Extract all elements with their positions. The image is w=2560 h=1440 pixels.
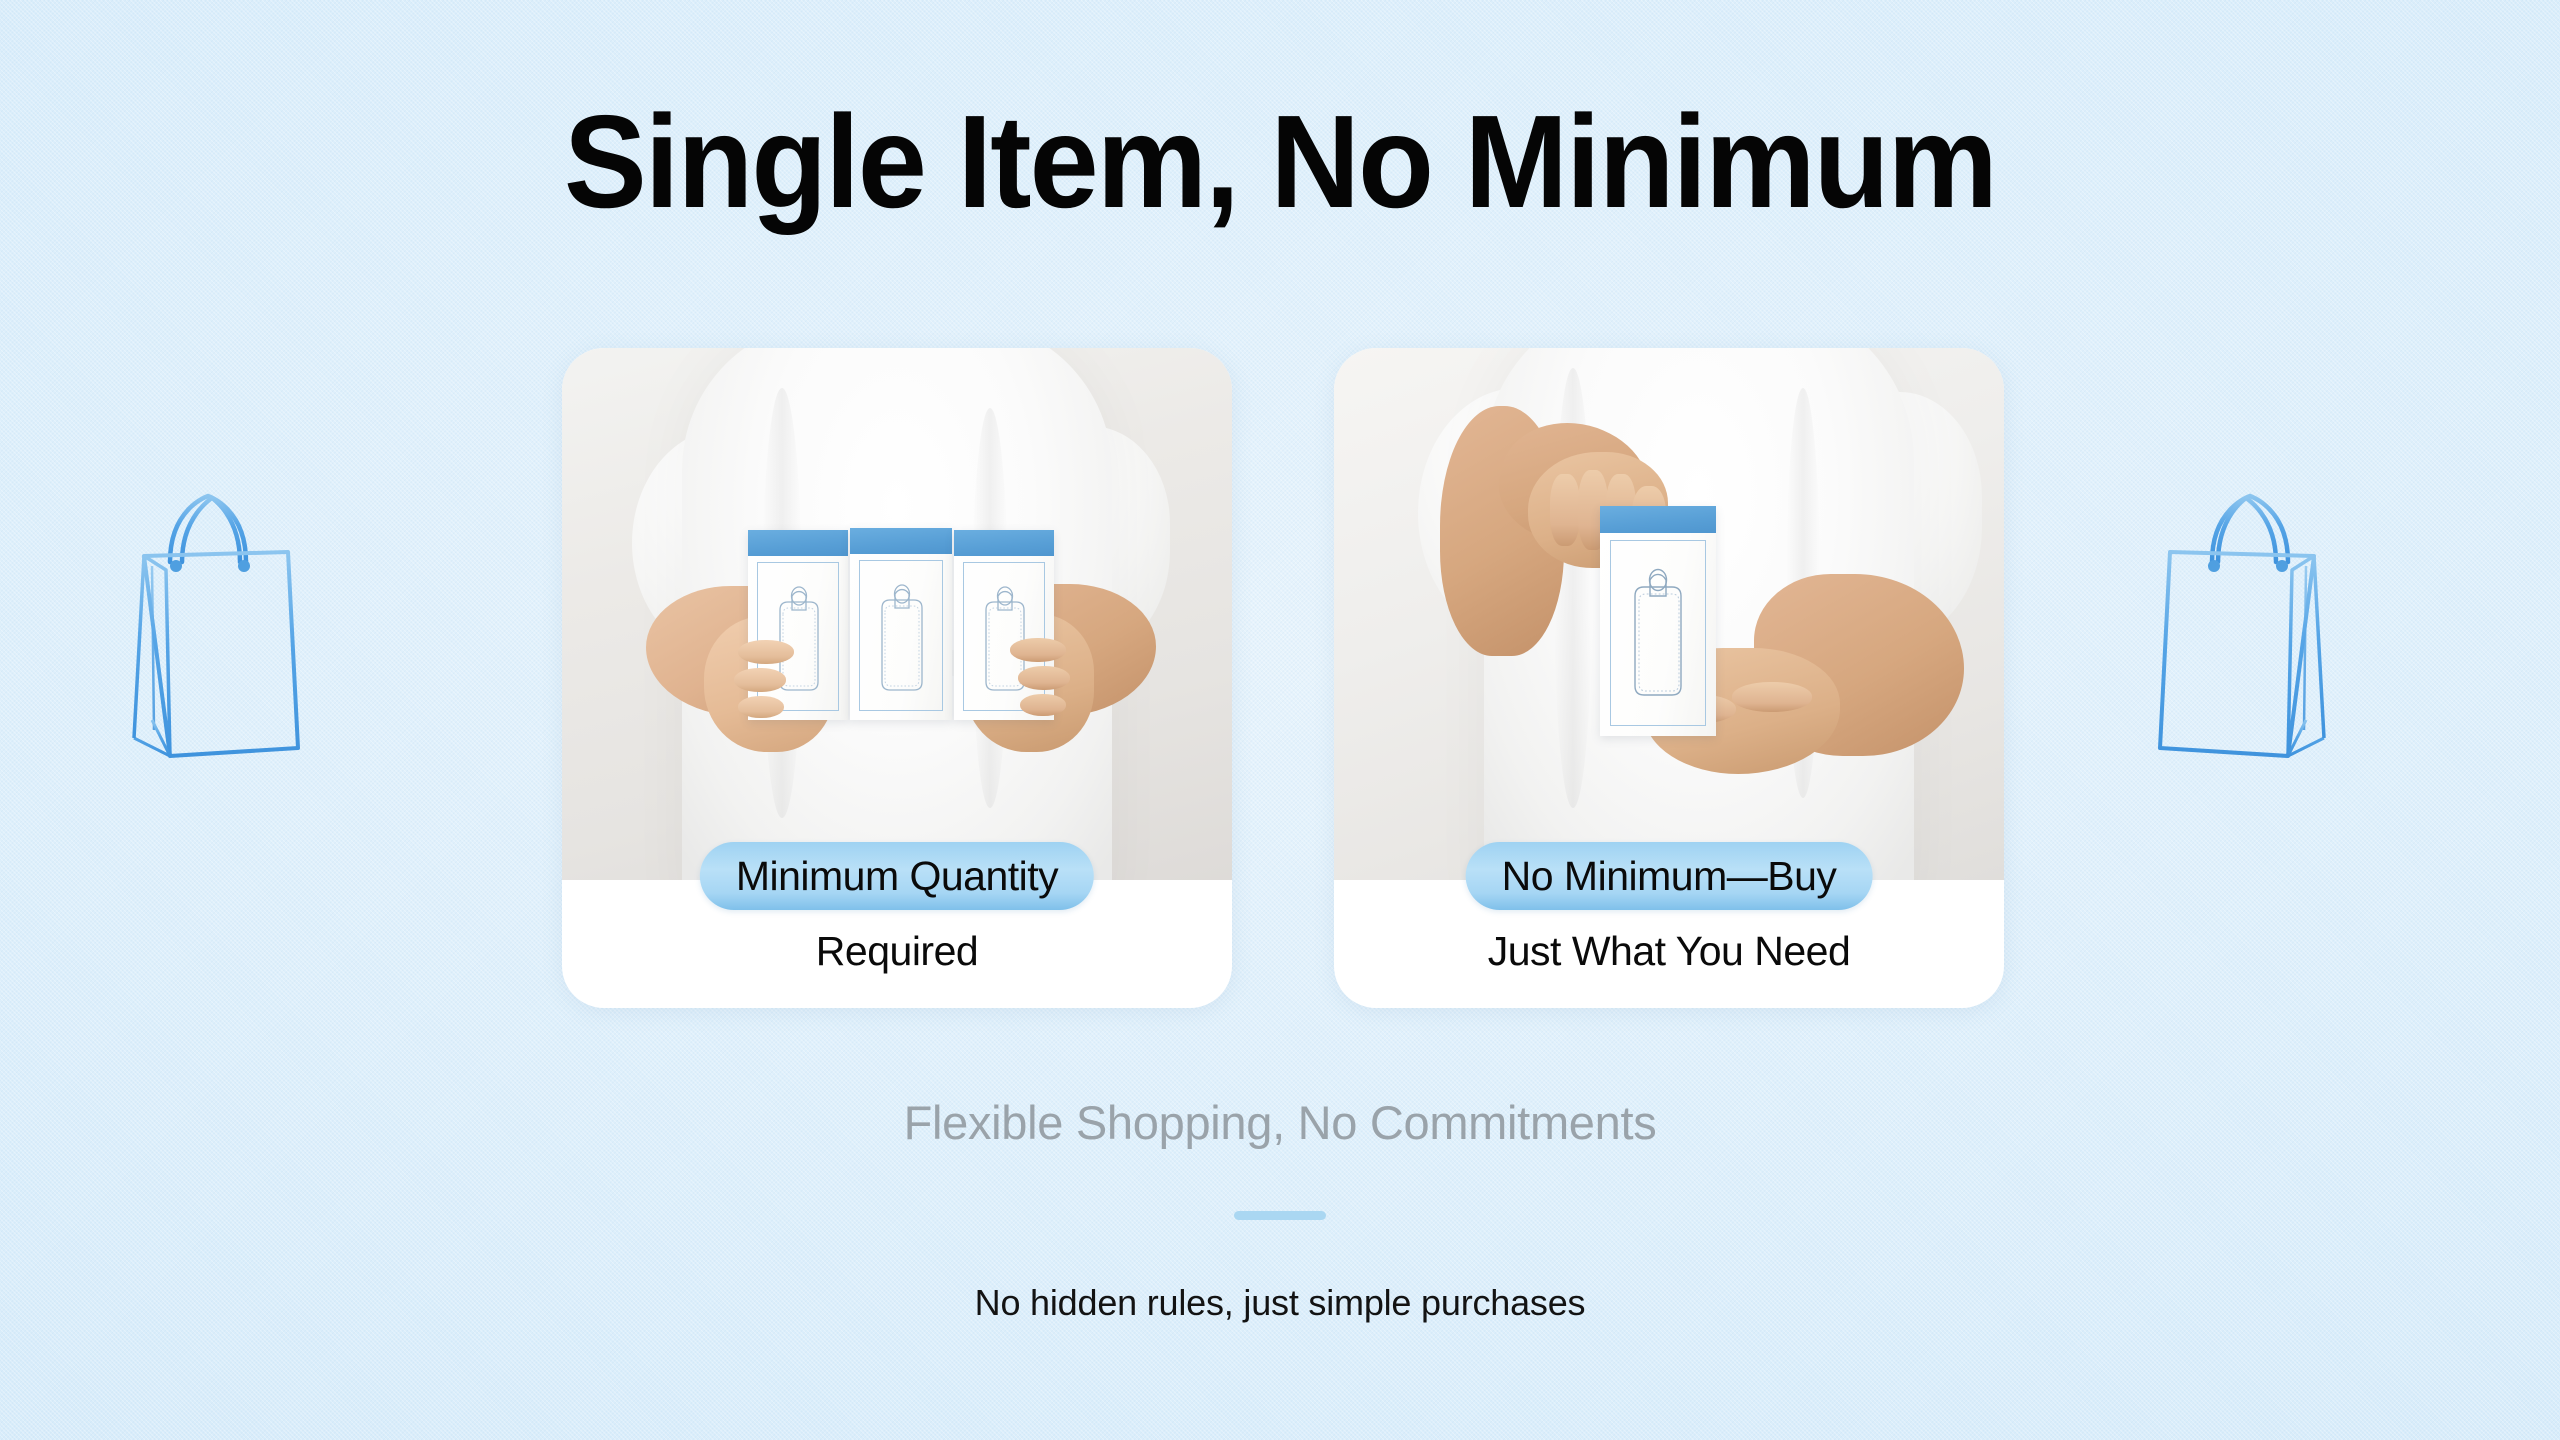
finger	[1550, 474, 1580, 546]
page-title: Single Item, No Minimum	[77, 86, 2483, 237]
product-box	[1600, 506, 1716, 736]
finger	[1018, 666, 1070, 690]
product-box	[850, 528, 952, 720]
card-no-minimum[interactable]: No Minimum—Buy Just What You Need	[1334, 348, 2004, 1008]
finger	[1010, 638, 1066, 662]
finger	[738, 640, 794, 664]
card-minimum-quantity[interactable]: Minimum Quantity Required	[562, 348, 1232, 1008]
poster-canvas: Single Item, No Minimum	[0, 0, 2560, 1440]
shopping-bag-icon-left	[112, 470, 312, 765]
finger	[1020, 694, 1066, 716]
finger	[1732, 682, 1812, 712]
tagline: Flexible Shopping, No Commitments	[0, 1095, 2560, 1150]
photo-three-boxes	[562, 348, 1232, 880]
photo-one-box	[1334, 348, 2004, 880]
finger	[738, 696, 784, 718]
card-caption-required: Required	[562, 928, 1232, 975]
finger	[734, 668, 786, 692]
shopping-bag-icon-right	[2146, 470, 2346, 765]
divider	[1234, 1211, 1326, 1220]
status-badge-no-minimum: No Minimum—Buy	[1466, 842, 1873, 910]
product-box	[954, 530, 1054, 720]
status-badge-minimum-quantity: Minimum Quantity	[700, 842, 1094, 910]
card-caption-just-what-you-need: Just What You Need	[1334, 928, 2004, 975]
footnote: No hidden rules, just simple purchases	[0, 1282, 2560, 1324]
